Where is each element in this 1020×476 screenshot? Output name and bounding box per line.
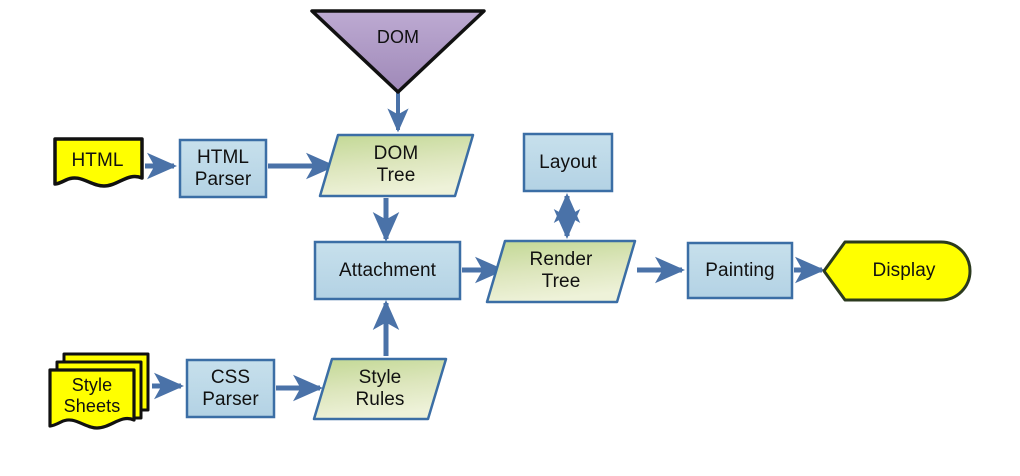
edge-layer (145, 92, 822, 388)
node-layout[interactable] (524, 134, 612, 191)
node-attachment[interactable] (315, 242, 460, 299)
node-style-sheets[interactable] (50, 370, 134, 428)
node-html[interactable] (55, 139, 142, 186)
node-painting[interactable] (688, 243, 792, 298)
node-dom[interactable] (312, 11, 484, 92)
node-render-tree[interactable] (487, 241, 635, 302)
node-style-rules[interactable] (314, 359, 446, 419)
rendering-pipeline-diagram: DOM HTML HTML Parser DOM Tree Layout Att… (0, 0, 1020, 476)
node-display[interactable] (824, 242, 970, 300)
diagram-canvas (0, 0, 1020, 476)
node-html-parser[interactable] (180, 140, 266, 197)
node-dom-tree[interactable] (320, 135, 473, 196)
node-css-parser[interactable] (187, 360, 274, 417)
